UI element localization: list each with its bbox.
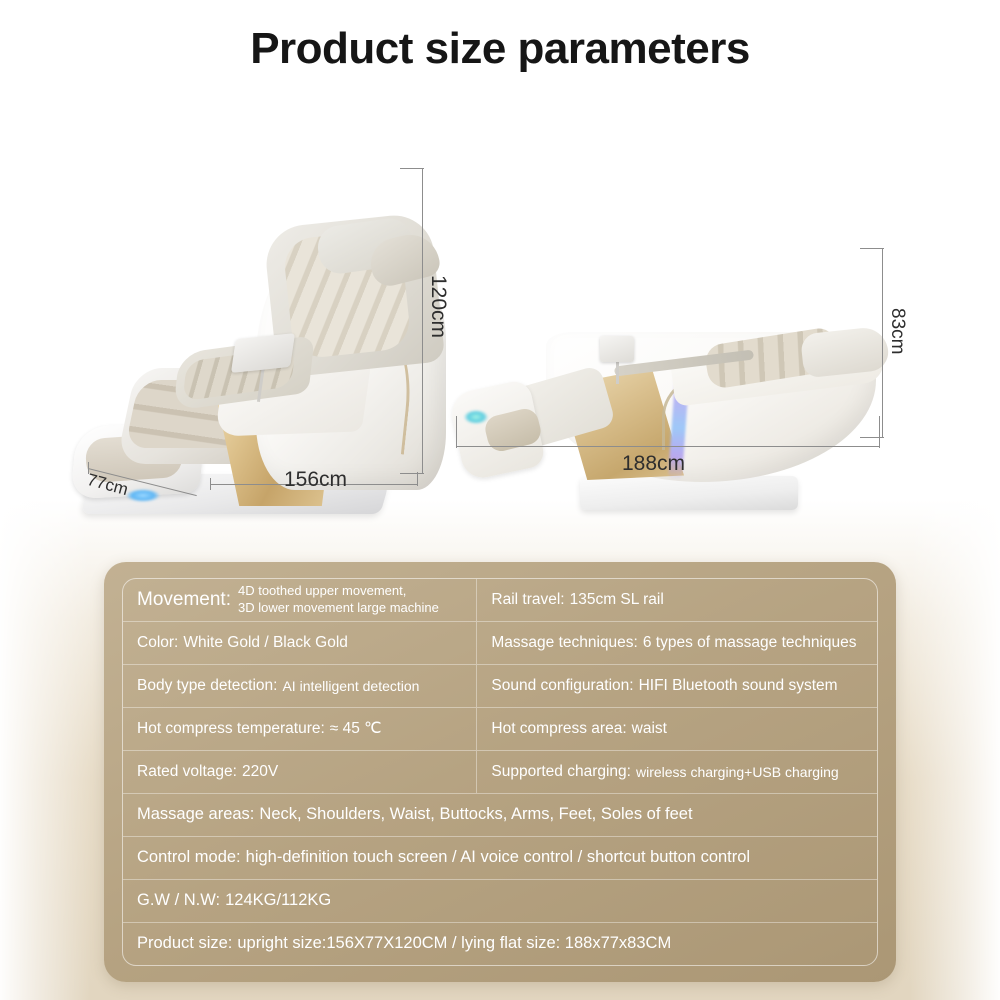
table-row: Color: White Gold / Black Gold Massage t… xyxy=(123,622,877,665)
dim-tick-length-right xyxy=(417,472,418,486)
spec-key: Body type detection: xyxy=(137,677,277,695)
spec-key: Rated voltage: xyxy=(137,763,237,781)
spec-cell-supported-charging: Supported charging: wireless charging+US… xyxy=(477,751,877,793)
spec-key: Product size: xyxy=(137,934,232,953)
table-row: Body type detection: AI intelligent dete… xyxy=(123,665,877,708)
product-spec-page: Product size parameters 120cm 156cm xyxy=(0,0,1000,1000)
spec-key: Color: xyxy=(137,634,178,652)
spec-cell-product-size: Product size: upright size:156X77X120CM … xyxy=(123,923,877,965)
table-row: Product size: upright size:156X77X120CM … xyxy=(123,923,877,965)
spec-value-line-2: 3D lower movement large machine xyxy=(238,600,439,617)
spec-value: waist xyxy=(632,720,667,738)
dim-tick-length-right xyxy=(879,416,880,448)
spec-cell-sound-configuration: Sound configuration: HIFI Bluetooth soun… xyxy=(477,665,877,707)
chair-touch-screen xyxy=(600,336,634,362)
dim-tick-length-left xyxy=(210,478,211,490)
spec-cell-hot-compress-area: Hot compress area: waist xyxy=(477,708,877,750)
spec-value: ≈ 45 ℃ xyxy=(330,720,382,738)
dim-line-height-vertical xyxy=(882,248,883,438)
spec-value-multiline: 4D toothed upper movement, 3D lower move… xyxy=(238,583,439,617)
dim-tick-height-bottom xyxy=(400,473,424,474)
table-row: Hot compress temperature: ≈ 45 ℃ Hot com… xyxy=(123,708,877,751)
spec-value: upright size:156X77X120CM / lying flat s… xyxy=(237,934,671,953)
spec-key: Hot compress temperature: xyxy=(137,720,325,738)
dim-label-height: 120cm xyxy=(426,275,450,338)
page-title: Product size parameters xyxy=(0,24,1000,74)
spec-key: Control mode: xyxy=(137,848,241,867)
spec-value: 124KG/112KG xyxy=(225,891,331,910)
figure-reclined-chair: 83cm 188cm xyxy=(450,230,920,520)
dim-label-length: 188cm xyxy=(622,452,685,476)
spec-value: 6 types of massage techniques xyxy=(643,634,857,652)
spec-cell-body-type-detection: Body type detection: AI intelligent dete… xyxy=(123,665,477,707)
spec-value: 135cm SL rail xyxy=(570,591,664,609)
dim-tick-height-bottom xyxy=(860,437,884,438)
spec-panel: Movement: 4D toothed upper movement, 3D … xyxy=(104,562,896,982)
spec-cell-massage-areas: Massage areas: Neck, Shoulders, Waist, B… xyxy=(123,794,877,836)
led-glow-icon xyxy=(126,489,160,502)
dim-tick-length-left xyxy=(456,416,457,448)
table-row: Rated voltage: 220V Supported charging: … xyxy=(123,751,877,794)
table-row: Movement: 4D toothed upper movement, 3D … xyxy=(123,579,877,622)
spec-value-line-1: 4D toothed upper movement, xyxy=(238,583,439,600)
spec-key: Massage techniques: xyxy=(491,634,637,652)
spec-table: Movement: 4D toothed upper movement, 3D … xyxy=(122,578,878,966)
spec-key: Movement: xyxy=(137,589,231,611)
spec-key: Hot compress area: xyxy=(491,720,626,738)
spec-value: high-definition touch screen / AI voice … xyxy=(246,848,750,867)
spec-value: Neck, Shoulders, Waist, Buttocks, Arms, … xyxy=(259,805,692,824)
spec-cell-color: Color: White Gold / Black Gold xyxy=(123,622,477,664)
led-glow-icon xyxy=(464,410,488,424)
spec-key: G.W / N.W: xyxy=(137,891,220,910)
spec-value: AI intelligent detection xyxy=(282,678,419,695)
spec-value: wireless charging+USB charging xyxy=(636,764,839,781)
dim-label-length: 156cm xyxy=(284,468,347,492)
dim-tick-height-top xyxy=(860,248,884,249)
figure-upright-chair: 120cm 156cm 77cm xyxy=(70,150,450,520)
spec-key: Supported charging: xyxy=(491,763,631,781)
spec-key: Rail travel: xyxy=(491,591,564,609)
dim-tick-height-top xyxy=(400,168,424,169)
dim-label-height: 83cm xyxy=(886,308,908,354)
spec-key: Massage areas: xyxy=(137,805,254,824)
spec-value: 220V xyxy=(242,763,278,781)
spec-value: White Gold / Black Gold xyxy=(183,634,348,652)
table-row: Massage areas: Neck, Shoulders, Waist, B… xyxy=(123,794,877,837)
spec-value: HIFI Bluetooth sound system xyxy=(639,677,838,695)
dim-line-length xyxy=(456,446,880,447)
chair-touch-screen xyxy=(231,333,295,373)
spec-cell-rail-travel: Rail travel: 135cm SL rail xyxy=(477,579,877,621)
dim-line-height-vertical xyxy=(422,168,423,474)
spec-key: Sound configuration: xyxy=(491,677,633,695)
spec-cell-hot-compress-temperature: Hot compress temperature: ≈ 45 ℃ xyxy=(123,708,477,750)
spec-cell-control-mode: Control mode: high-definition touch scre… xyxy=(123,837,877,879)
table-row: G.W / N.W: 124KG/112KG xyxy=(123,880,877,923)
spec-cell-gross-net-weight: G.W / N.W: 124KG/112KG xyxy=(123,880,877,922)
spec-cell-rated-voltage: Rated voltage: 220V xyxy=(123,751,477,793)
table-row: Control mode: high-definition touch scre… xyxy=(123,837,877,880)
spec-cell-massage-techniques: Massage techniques: 6 types of massage t… xyxy=(477,622,877,664)
spec-cell-movement: Movement: 4D toothed upper movement, 3D … xyxy=(123,579,477,621)
